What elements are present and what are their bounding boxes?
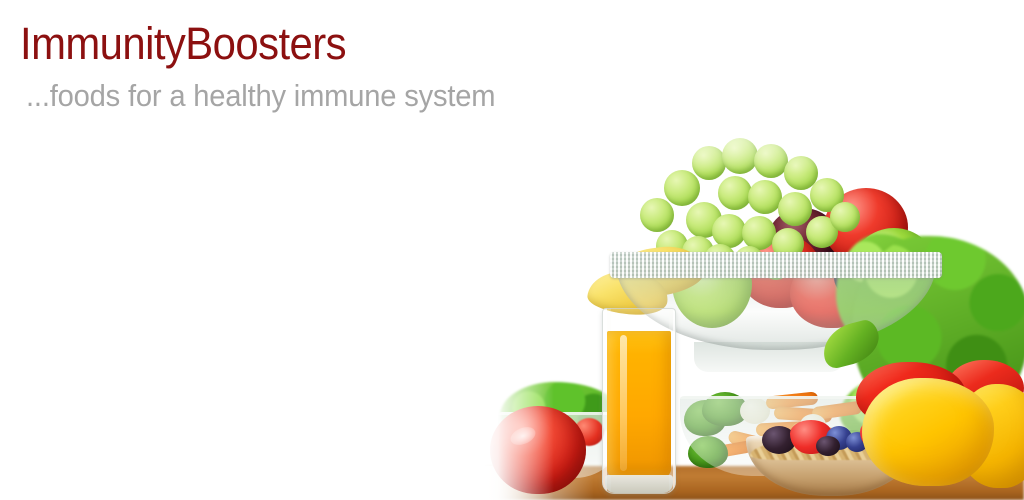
glass-base	[605, 475, 673, 493]
app-subtitle: ...foods for a healthy immune system	[26, 76, 584, 116]
yellow-bell-pepper	[862, 378, 994, 486]
healthy-foods-photo	[484, 120, 1024, 500]
banner-text-block: ImmunityBoosters ...foods for a healthy …	[0, 0, 620, 116]
app-title: ImmunityBoosters	[20, 18, 578, 70]
app-feature-banner: ImmunityBoosters ...foods for a healthy …	[0, 0, 1024, 500]
fruit-bowl-rim	[610, 252, 942, 278]
glass-highlight	[620, 335, 627, 471]
front-red-apple	[490, 406, 586, 494]
orange-juice-liquid	[607, 331, 671, 477]
orange-juice-glass	[602, 308, 676, 494]
